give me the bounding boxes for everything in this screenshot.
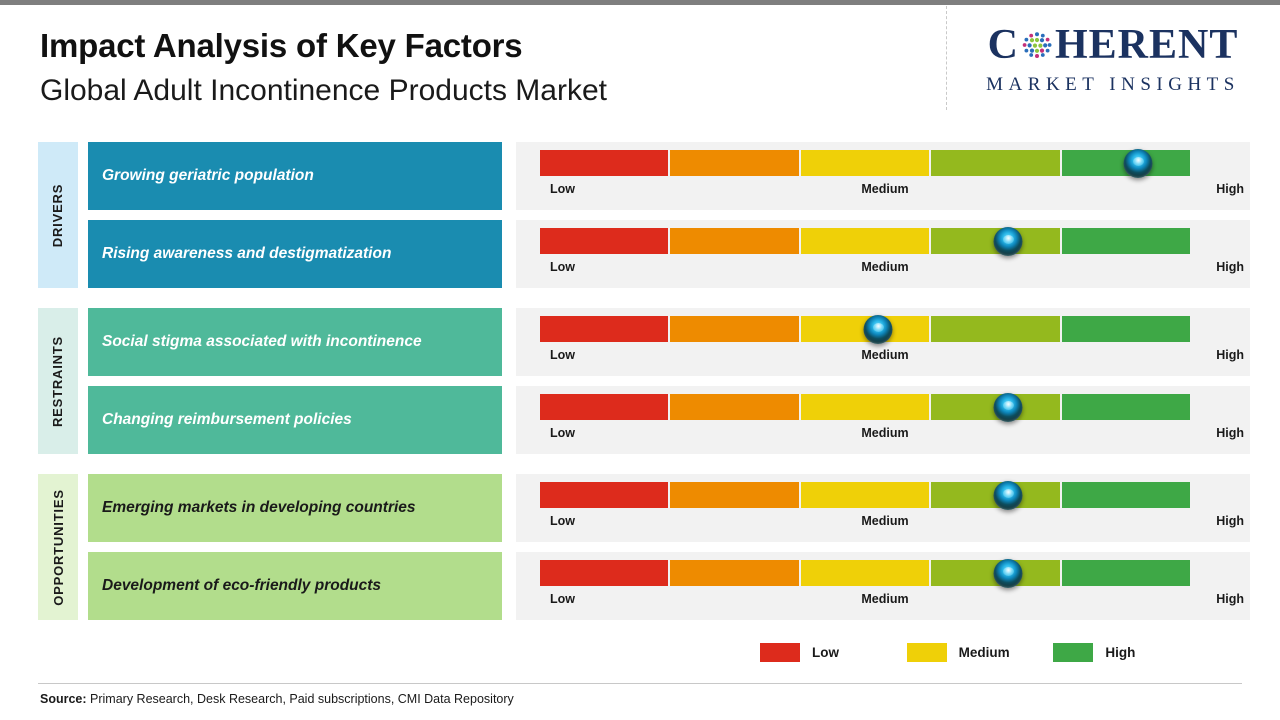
source-text: Primary Research, Desk Research, Paid su…	[87, 692, 514, 706]
table-row: Development of eco-friendly productsLowM…	[38, 552, 1250, 620]
gauge-segment-5	[1062, 394, 1190, 420]
factor-box[interactable]: Rising awareness and destigmatization	[88, 220, 502, 288]
scale-label-medium: Medium	[861, 348, 908, 362]
impact-marker[interactable]	[994, 481, 1023, 510]
company-logo: C	[963, 22, 1263, 96]
scale-label-medium: Medium	[861, 182, 908, 196]
gauge-segment-4	[931, 150, 1059, 176]
factor-label: Changing reimbursement policies	[102, 411, 352, 430]
legend-swatch	[760, 643, 800, 662]
legend-item: Medium	[907, 643, 1054, 662]
gauge-segment-1	[540, 394, 668, 420]
header: Impact Analysis of Key Factors Global Ad…	[40, 28, 920, 109]
scale-label-high: High	[1216, 426, 1244, 440]
logo-divider	[946, 6, 947, 110]
scale-label-low: Low	[550, 182, 575, 196]
logo-letter-c: C	[988, 24, 1019, 66]
gauge-segment-1	[540, 482, 668, 508]
gauge-segment-2	[670, 228, 798, 254]
gauge-segment-5	[1062, 560, 1190, 586]
gauge-track	[540, 482, 1190, 508]
impact-gauge: LowMediumHigh	[516, 142, 1250, 210]
gauge-segment-3	[801, 394, 929, 420]
gauge-segment-5	[1062, 316, 1190, 342]
factor-label: Development of eco-friendly products	[102, 577, 381, 596]
factor-label: Growing geriatric population	[102, 167, 314, 186]
gauge-segment-2	[670, 560, 798, 586]
logo-tagline: MARKET INSIGHTS	[963, 74, 1263, 96]
factor-label: Emerging markets in developing countries	[102, 499, 416, 518]
source-label: Source:	[40, 692, 87, 706]
logo-wordmark: C	[963, 22, 1263, 68]
gauge-segment-5	[1062, 228, 1190, 254]
legend-swatch	[1053, 643, 1093, 662]
page-title: Impact Analysis of Key Factors	[40, 28, 920, 65]
gauge-segment-3	[801, 150, 929, 176]
table-row: Changing reimbursement policiesLowMedium…	[38, 386, 1250, 454]
dotted-globe-icon	[1020, 29, 1054, 63]
scale-label-low: Low	[550, 260, 575, 274]
factor-box[interactable]: Emerging markets in developing countries	[88, 474, 502, 542]
top-accent-bar	[0, 0, 1280, 5]
impact-marker[interactable]	[994, 227, 1023, 256]
impact-marker[interactable]	[994, 393, 1023, 422]
footer-divider	[38, 683, 1242, 684]
gauge-scale: LowMediumHigh	[540, 592, 1230, 612]
impact-gauge: LowMediumHigh	[516, 552, 1250, 620]
gauge-segment-4	[931, 316, 1059, 342]
scale-label-medium: Medium	[861, 260, 908, 274]
scale-label-low: Low	[550, 426, 575, 440]
scale-label-medium: Medium	[861, 426, 908, 440]
gauge-segment-2	[670, 394, 798, 420]
scale-label-medium: Medium	[861, 592, 908, 606]
impact-gauge: LowMediumHigh	[516, 386, 1250, 454]
factor-box[interactable]: Social stigma associated with incontinen…	[88, 308, 502, 376]
logo-word-rest: HERENT	[1055, 24, 1238, 66]
gauge-track	[540, 394, 1190, 420]
scale-label-low: Low	[550, 592, 575, 606]
impact-gauge: LowMediumHigh	[516, 220, 1250, 288]
factor-box[interactable]: Development of eco-friendly products	[88, 552, 502, 620]
factor-label: Social stigma associated with incontinen…	[102, 333, 422, 352]
factor-box[interactable]: Changing reimbursement policies	[88, 386, 502, 454]
gauge-scale: LowMediumHigh	[540, 426, 1230, 446]
gauge-segment-1	[540, 316, 668, 342]
impact-marker[interactable]	[864, 315, 893, 344]
scale-label-high: High	[1216, 182, 1244, 196]
gauge-segment-1	[540, 150, 668, 176]
factor-box[interactable]: Growing geriatric population	[88, 142, 502, 210]
legend-label: Low	[812, 645, 839, 660]
scale-label-high: High	[1216, 514, 1244, 528]
gauge-track	[540, 560, 1190, 586]
legend-item: Low	[760, 643, 907, 662]
gauge-segment-2	[670, 316, 798, 342]
impact-marker[interactable]	[1124, 149, 1153, 178]
impact-marker[interactable]	[994, 559, 1023, 588]
legend-label: Medium	[959, 645, 1010, 660]
gauge-segment-2	[670, 150, 798, 176]
impact-gauge: LowMediumHigh	[516, 474, 1250, 542]
table-row: Social stigma associated with incontinen…	[38, 308, 1250, 376]
gauge-scale: LowMediumHigh	[540, 182, 1230, 202]
legend-item: High	[1053, 643, 1200, 662]
gauge-segment-1	[540, 228, 668, 254]
scale-label-high: High	[1216, 260, 1244, 274]
legend: LowMediumHigh	[760, 643, 1200, 662]
scale-label-low: Low	[550, 348, 575, 362]
gauge-scale: LowMediumHigh	[540, 260, 1230, 280]
gauge-segment-1	[540, 560, 668, 586]
gauge-segment-3	[801, 560, 929, 586]
gauge-segment-3	[801, 482, 929, 508]
gauge-scale: LowMediumHigh	[540, 348, 1230, 368]
impact-gauge: LowMediumHigh	[516, 308, 1250, 376]
table-row: Emerging markets in developing countries…	[38, 474, 1250, 542]
gauge-track	[540, 228, 1190, 254]
table-row: Rising awareness and destigmatizationLow…	[38, 220, 1250, 288]
legend-label: High	[1105, 645, 1135, 660]
scale-label-low: Low	[550, 514, 575, 528]
legend-swatch	[907, 643, 947, 662]
gauge-scale: LowMediumHigh	[540, 514, 1230, 534]
factor-label: Rising awareness and destigmatization	[102, 245, 391, 264]
source-note: Source: Primary Research, Desk Research,…	[40, 692, 514, 706]
slide-canvas: Impact Analysis of Key Factors Global Ad…	[0, 0, 1280, 720]
table-row: Growing geriatric populationLowMediumHig…	[38, 142, 1250, 210]
gauge-segment-3	[801, 228, 929, 254]
page-subtitle: Global Adult Incontinence Products Marke…	[40, 73, 920, 109]
scale-label-high: High	[1216, 348, 1244, 362]
gauge-track	[540, 150, 1190, 176]
scale-label-high: High	[1216, 592, 1244, 606]
gauge-segment-2	[670, 482, 798, 508]
gauge-segment-5	[1062, 482, 1190, 508]
factor-rows: Growing geriatric populationLowMediumHig…	[38, 142, 1250, 640]
scale-label-medium: Medium	[861, 514, 908, 528]
